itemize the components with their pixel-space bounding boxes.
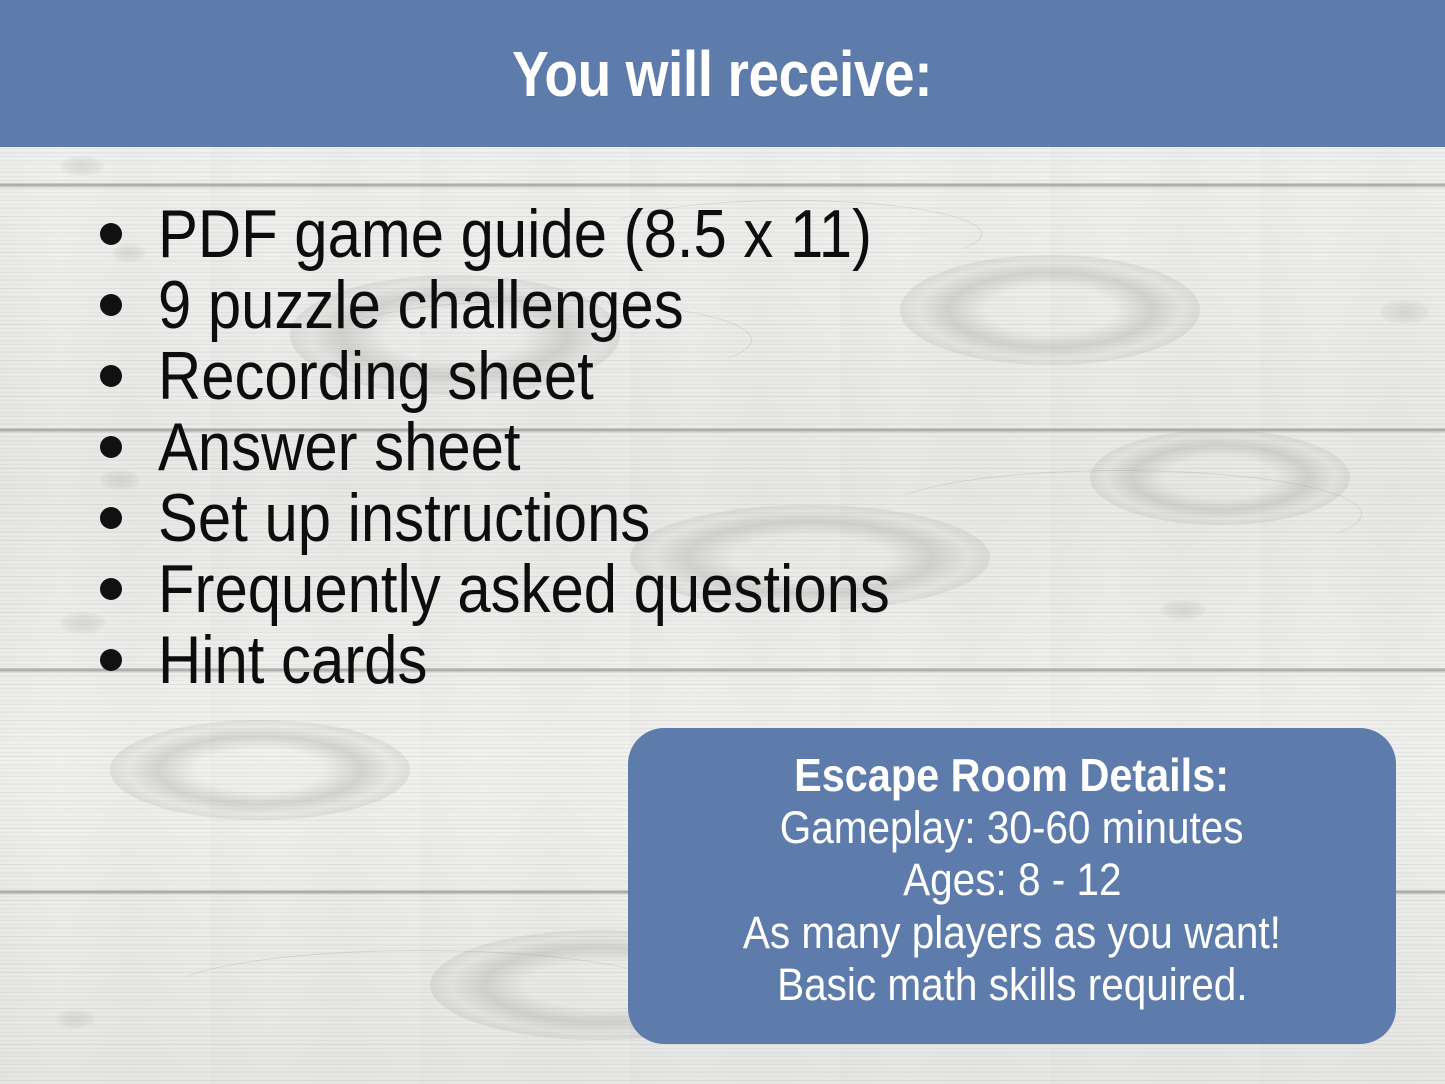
details-box-line-gameplay: Gameplay: 30-60 minutes <box>780 802 1244 855</box>
list-item-label: PDF game guide (8.5 x 11) <box>158 200 872 268</box>
list-item-label: Set up instructions <box>158 484 650 552</box>
wood-grain-arc <box>160 950 682 1042</box>
list-item-label: Frequently asked questions <box>158 555 890 623</box>
bullet-dot-icon <box>100 294 122 316</box>
list-item-label: Hint cards <box>158 626 427 694</box>
plank-seam <box>0 183 1445 188</box>
list-item: Frequently asked questions <box>96 553 1296 624</box>
bullet-dot-icon <box>100 436 122 458</box>
escape-room-details-box: Escape Room Details: Gameplay: 30-60 min… <box>628 728 1396 1044</box>
list-item: Recording sheet <box>96 340 1296 411</box>
wood-knot <box>110 720 410 820</box>
list-item-label: 9 puzzle challenges <box>158 271 684 339</box>
list-item: Set up instructions <box>96 482 1296 553</box>
list-item-label: Answer sheet <box>158 413 521 481</box>
details-box-title: Escape Room Details: <box>795 750 1230 802</box>
bullet-dot-icon <box>100 507 122 529</box>
bullet-dot-icon <box>100 649 122 671</box>
bullet-dot-icon <box>100 365 122 387</box>
wood-smudge <box>60 156 104 176</box>
details-box-line-skills: Basic math skills required. <box>777 959 1247 1012</box>
details-box-line-players: As many players as you want! <box>743 907 1281 960</box>
bullet-dot-icon <box>100 223 122 245</box>
list-item: Hint cards <box>96 624 1296 695</box>
header-bar: You will receive: <box>0 0 1445 147</box>
wood-smudge <box>1380 300 1430 324</box>
list-item: PDF game guide (8.5 x 11) <box>96 198 1296 269</box>
bullet-dot-icon <box>100 578 122 600</box>
details-box-line-ages: Ages: 8 - 12 <box>903 854 1121 907</box>
wood-smudge <box>55 1010 95 1028</box>
list-item: 9 puzzle challenges <box>96 269 1296 340</box>
list-item: Answer sheet <box>96 411 1296 482</box>
receive-list: PDF game guide (8.5 x 11) 9 puzzle chall… <box>96 198 1296 695</box>
slide-canvas: You will receive: PDF game guide (8.5 x … <box>0 0 1445 1084</box>
page-title: You will receive: <box>513 42 933 106</box>
list-item-label: Recording sheet <box>158 342 594 410</box>
